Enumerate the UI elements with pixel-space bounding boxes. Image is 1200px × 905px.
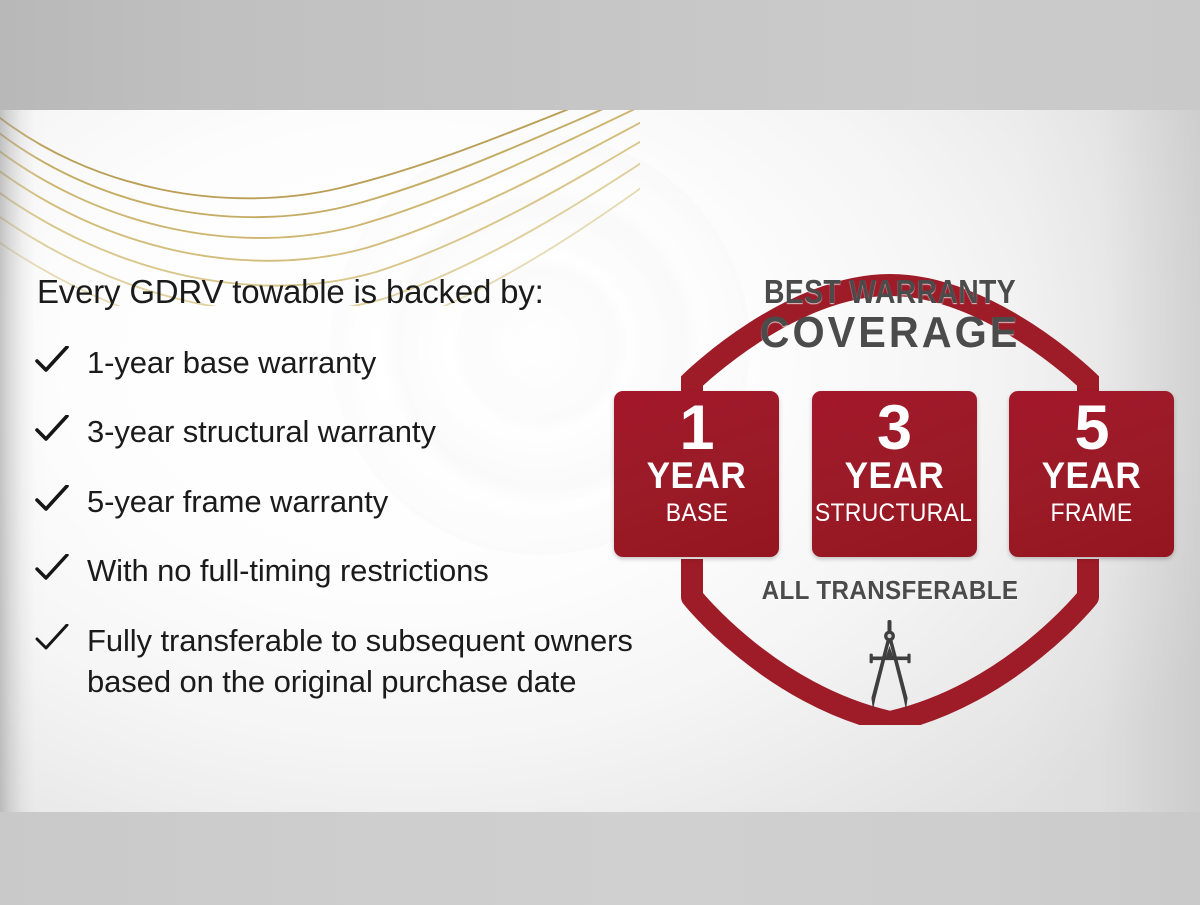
warranty-shield-badge: BEST WARRANTY COVERAGE 1 YEAR BASE 3 YEA…	[600, 225, 1180, 725]
list-item-label: 3-year structural warranty	[87, 411, 436, 453]
list-item-label: Fully transferable to subsequent owners …	[87, 620, 645, 703]
list-item: 3-year structural warranty	[35, 411, 645, 453]
letterbox-bottom	[0, 812, 1200, 905]
warranty-box-number: 3	[877, 398, 911, 458]
warranty-box-number: 5	[1074, 398, 1108, 458]
page-title: Every GDRV towable is backed by:	[37, 275, 645, 310]
check-mark-icon	[35, 411, 87, 445]
check-mark-icon	[35, 620, 87, 654]
slide-canvas: Every GDRV towable is backed by: 1-year …	[0, 110, 1200, 812]
warranty-box-year: YEAR	[647, 457, 747, 494]
warranty-box-frame: 5 YEAR FRAME	[1009, 391, 1174, 557]
warranty-box-year: YEAR	[1042, 457, 1142, 494]
warranty-box-structural: 3 YEAR STRUCTURAL	[812, 391, 977, 557]
warranty-box-kind: FRAME	[1051, 501, 1133, 526]
check-mark-icon	[35, 550, 87, 584]
list-item: 1-year base warranty	[35, 342, 645, 384]
badge-heading-line-2: COVERAGE	[617, 310, 1162, 357]
slide-image: Every GDRV towable is backed by: 1-year …	[0, 0, 1200, 905]
drafting-compass-icon	[853, 620, 927, 712]
warranty-copy-block: Every GDRV towable is backed by: 1-year …	[35, 275, 645, 703]
badge-heading: BEST WARRANTY COVERAGE	[600, 275, 1180, 357]
warranty-box-base: 1 YEAR BASE	[614, 391, 779, 557]
warranty-box-kind: BASE	[665, 501, 727, 526]
list-item: With no full-timing restrictions	[35, 550, 645, 592]
warranty-box-number: 1	[679, 398, 713, 458]
warranty-box-year: YEAR	[844, 457, 944, 494]
check-mark-icon	[35, 481, 87, 515]
badge-footer-text: ALL TRANSFERABLE	[620, 575, 1159, 606]
check-mark-icon	[35, 342, 87, 376]
warranty-bullet-list: 1-year base warranty 3-year structural w…	[35, 342, 645, 703]
list-item-label: 5-year frame warranty	[87, 481, 388, 523]
list-item-label: 1-year base warranty	[87, 342, 376, 384]
list-item: Fully transferable to subsequent owners …	[35, 620, 645, 703]
warranty-box-kind: STRUCTURAL	[815, 501, 972, 526]
warranty-term-boxes: 1 YEAR BASE 3 YEAR STRUCTURAL 5 YEAR FRA…	[614, 391, 1174, 557]
list-item-label: With no full-timing restrictions	[87, 550, 489, 592]
list-item: 5-year frame warranty	[35, 481, 645, 523]
badge-heading-line-1: BEST WARRANTY	[641, 275, 1140, 308]
letterbox-top	[0, 0, 1200, 110]
